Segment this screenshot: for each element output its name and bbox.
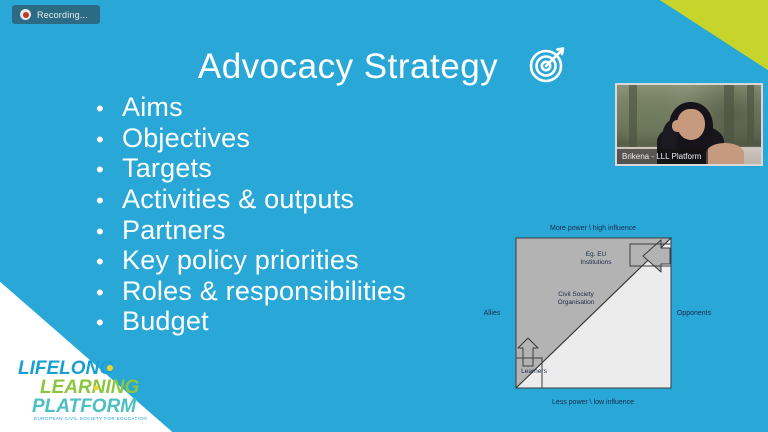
list-item-label: Key policy priorities — [122, 245, 359, 276]
bullet-marker: • — [96, 221, 122, 243]
diagram-left-label: Allies — [484, 310, 501, 317]
diagram-callout-eu-line1: Eg. EU — [586, 251, 607, 258]
list-item-label: Targets — [122, 153, 212, 184]
recording-indicator[interactable]: Recording... — [12, 5, 100, 24]
bullet-marker: • — [96, 251, 122, 273]
bullet-marker: • — [96, 312, 122, 334]
list-item: •Activities & outputs — [96, 184, 406, 215]
diagram-callout-eu-line2: Institutions — [580, 259, 612, 266]
logo-line-1: LIFELONG — [18, 358, 114, 379]
recording-label: Recording... — [37, 10, 88, 20]
participant-video-tile[interactable]: Brikena - LLL Platform — [615, 83, 763, 166]
list-item: •Roles & responsibilities — [96, 276, 406, 307]
logo-line-3: PLATFORM — [32, 396, 137, 417]
list-item: •Targets — [96, 153, 406, 184]
page-title: Advocacy Strategy — [198, 49, 498, 84]
record-dot-icon — [20, 9, 31, 20]
bullet-marker: • — [96, 129, 122, 151]
bullet-marker: • — [96, 282, 122, 304]
list-item: •Key policy priorities — [96, 245, 406, 276]
bullet-marker: • — [96, 190, 122, 212]
list-item-label: Partners — [122, 215, 226, 246]
list-item: •Partners — [96, 215, 406, 246]
list-item: •Budget — [96, 306, 406, 337]
bullet-marker: • — [96, 159, 122, 181]
list-item: •Objectives — [96, 123, 406, 154]
participant-name-label: Brikena - LLL Platform — [617, 149, 708, 164]
lifelong-learning-platform-logo: LIFELONG LEARNING PLATFORM EUROPEAN CIVI… — [10, 352, 150, 424]
bullet-list: •Aims •Objectives •Targets •Activities &… — [96, 92, 406, 337]
diagram-right-label: Opponents — [677, 310, 712, 317]
logo-line-2: LEARNING — [40, 377, 139, 398]
diagram-callout-cso-line2: Organisation — [558, 299, 595, 306]
target-icon — [526, 42, 570, 91]
list-item-label: Objectives — [122, 123, 250, 154]
list-item-label: Activities & outputs — [122, 184, 354, 215]
bullet-marker: • — [96, 98, 122, 120]
diagram-callout-cso-line1: Civil Society — [558, 291, 594, 298]
presentation-slide: Recording... Advocacy Strategy •Aims •Ob… — [0, 0, 768, 432]
list-item: •Aims — [96, 92, 406, 123]
list-item-label: Roles & responsibilities — [122, 276, 406, 307]
diagram-callout-learners: Learners — [521, 368, 547, 375]
power-influence-diagram: More power \ high influence Less power \… — [466, 218, 716, 410]
logo-tagline: EUROPEAN CIVIL SOCIETY FOR EDUCATION — [34, 416, 147, 421]
diagram-top-label: More power \ high influence — [550, 225, 636, 232]
list-item-label: Aims — [122, 92, 183, 123]
list-item-label: Budget — [122, 306, 209, 337]
diagram-bottom-label: Less power \ low influence — [552, 399, 634, 406]
